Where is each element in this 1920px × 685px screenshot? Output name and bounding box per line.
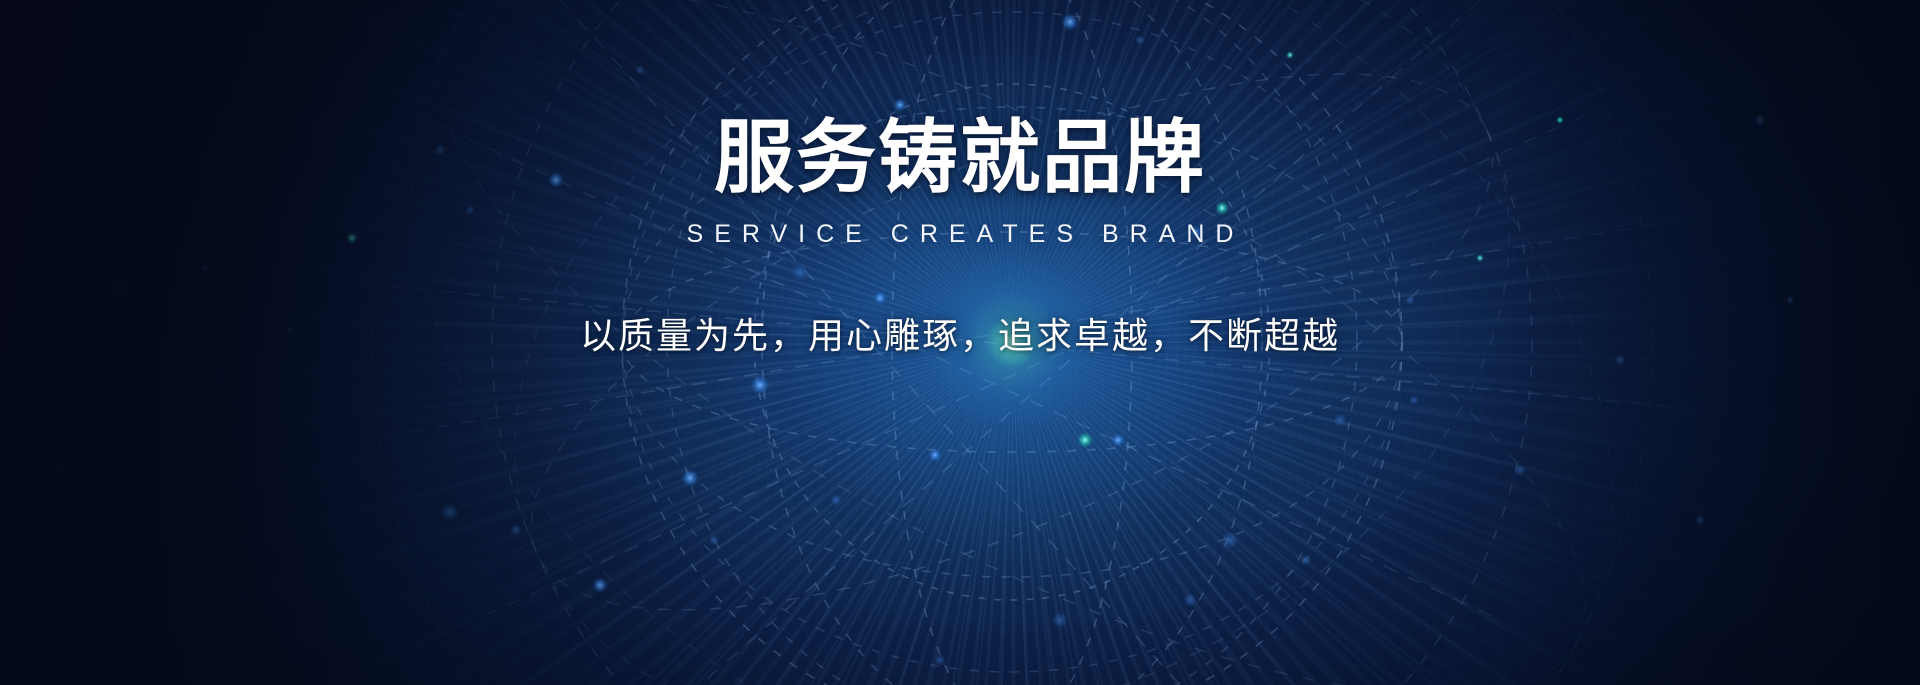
hero-banner: 服务铸就品牌 SERVICE CREATES BRAND 以质量为先，用心雕琢，… <box>0 0 1920 685</box>
banner-content: 服务铸就品牌 SERVICE CREATES BRAND 以质量为先，用心雕琢，… <box>0 0 1920 685</box>
banner-tagline: 以质量为先，用心雕琢，追求卓越，不断超越 <box>580 307 1340 359</box>
banner-headline: 服务铸就品牌 <box>714 118 1206 198</box>
banner-subheadline: SERVICE CREATES BRAND <box>676 220 1245 249</box>
